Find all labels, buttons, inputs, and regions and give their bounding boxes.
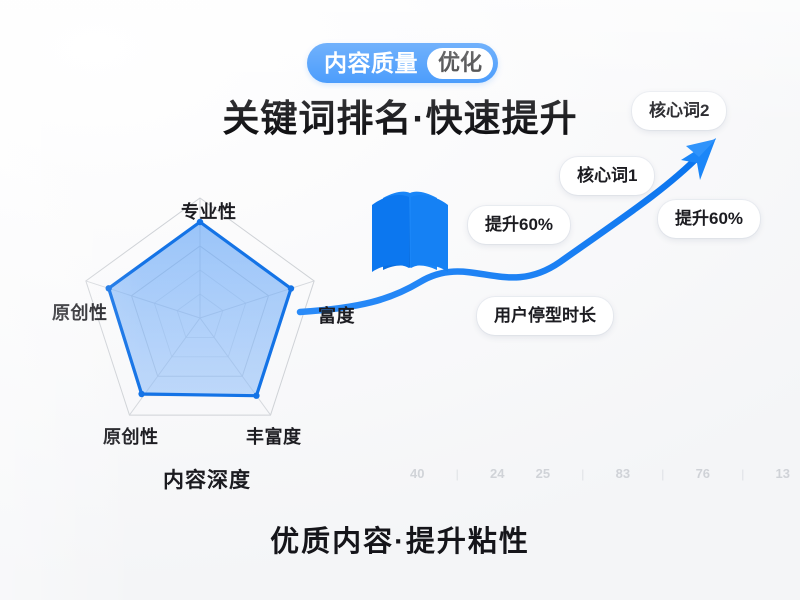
axis-tick-1: 24 xyxy=(490,466,504,481)
radar-axis-label-professional: 专业性 xyxy=(181,198,237,224)
axis-tick-2: 25 xyxy=(536,466,550,481)
radar-axis-label-originality-2: 原创性 xyxy=(52,299,108,325)
callout-dwell-time[interactable]: 用户停型时长 xyxy=(477,297,613,335)
callout-keyword-2[interactable]: 核心词2 xyxy=(632,92,726,130)
axis-tick-divider: | xyxy=(581,467,584,481)
poster-canvas: 内容质量 优化 关键词排名·快速提升 优质内容·提升粘性 内容深度 专业性 富度… xyxy=(0,0,800,600)
callout-keyword-1[interactable]: 核心词1 xyxy=(560,157,654,195)
axis-tick-divider: | xyxy=(456,467,459,481)
axis-tick-row: 40 | 24 25 | 83 | 76 | 13 xyxy=(410,466,790,481)
axis-tick-5: 13 xyxy=(776,466,790,481)
radar-axis-label-abundance: 丰富度 xyxy=(246,423,302,449)
axis-tick-divider: | xyxy=(661,467,664,481)
axis-tick-3: 83 xyxy=(616,466,630,481)
badge-chip-label: 优化 xyxy=(427,48,493,79)
radar-axis-label-richness: 富度 xyxy=(318,302,355,328)
axis-tick-4: 76 xyxy=(696,466,710,481)
badge-main-label: 内容质量 xyxy=(324,52,427,75)
callout-uplift-2[interactable]: 提升60% xyxy=(658,200,760,238)
radar-axis-label-originality-1: 原创性 xyxy=(103,423,159,449)
axis-tick-0: 40 xyxy=(410,466,424,481)
axis-tick-divider: | xyxy=(741,467,744,481)
quality-badge[interactable]: 内容质量 优化 xyxy=(307,43,498,83)
footer-title: 优质内容·提升粘性 xyxy=(0,518,800,560)
callout-uplift-1[interactable]: 提升60% xyxy=(468,206,570,244)
content-depth-label: 内容深度 xyxy=(163,464,251,494)
